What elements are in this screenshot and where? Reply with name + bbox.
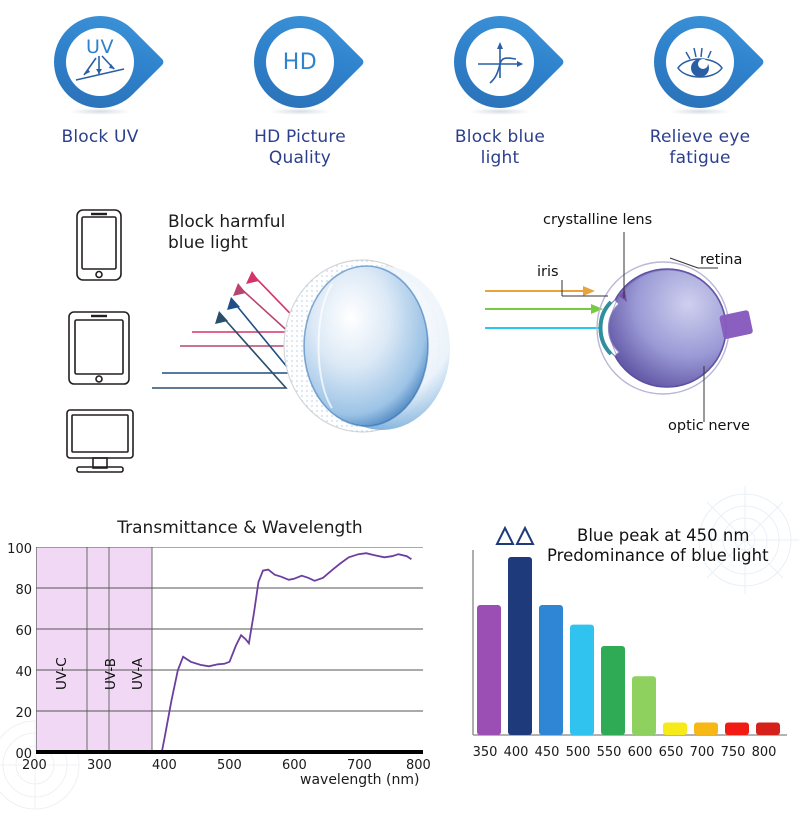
bar-xlabel-700: 700 [686, 745, 718, 760]
bar-750 [725, 723, 749, 735]
bar-600 [632, 676, 656, 735]
phone-icon [77, 210, 121, 280]
uv-band-label-c: UV-C [54, 657, 70, 690]
lens-eye-diagram: Block harmful blue light [0, 196, 800, 486]
bar-550 [601, 646, 625, 735]
feature-block-blue-light: Block blue light [400, 10, 600, 169]
chart-title-transmittance: Transmittance & Wavelength [100, 518, 380, 538]
tablet-icon [69, 312, 129, 384]
uv-band-label-b: UV-B [103, 658, 119, 690]
xtick-500: 500 [217, 758, 242, 773]
block-harmful-blue-light-text: Block harmful blue light [168, 212, 378, 254]
uv-shield-icon: UV [50, 10, 150, 115]
hd-icon: HD [250, 10, 350, 115]
bar-500 [570, 625, 594, 735]
feature-hd-picture: HD HD Picture Quality [200, 10, 400, 169]
eye-icon [650, 10, 750, 115]
xtick-700: 700 [347, 758, 372, 773]
uv-band-label-a: UV-A [130, 658, 146, 690]
transmittance-plot [36, 547, 426, 767]
bar-xlabel-350: 350 [469, 745, 501, 760]
ytick-20: 20 [4, 706, 32, 721]
bar-400 [508, 557, 532, 735]
feature-label-hd-picture: HD Picture Quality [200, 127, 400, 169]
bar-xlabel-800: 800 [748, 745, 780, 760]
bar-700 [694, 723, 718, 735]
bar-xlabel-500: 500 [562, 745, 594, 760]
bar-xlabel-750: 750 [717, 745, 749, 760]
monitor-icon [67, 410, 133, 472]
band-uvc [36, 547, 87, 752]
xaxis-label-wavelength: wavelength (nm) [300, 772, 419, 788]
bar-xlabel-650: 650 [655, 745, 687, 760]
bar-xlabel-450: 450 [531, 745, 563, 760]
bar-plot [467, 550, 797, 740]
feature-label-block-uv: Block UV [0, 127, 200, 148]
ytick-100: 100 [4, 542, 32, 557]
xtick-400: 400 [152, 758, 177, 773]
xtick-200: 200 [22, 758, 47, 773]
bar-650 [663, 723, 687, 735]
eye-label-leaders [520, 206, 780, 446]
charts-row: Transmittance & Wavelength 100 80 60 40 … [0, 500, 800, 800]
bar-xlabel-600: 600 [624, 745, 656, 760]
feature-relieve-eye-fatigue: Relieve eye fatigue [600, 10, 800, 169]
bar-xlabel-400: 400 [500, 745, 532, 760]
band-uva [109, 547, 152, 752]
xtick-300: 300 [87, 758, 112, 773]
bar-xlabel-550: 550 [593, 745, 625, 760]
bar-350 [477, 605, 501, 735]
feature-icons-row: UV Block UV [0, 10, 800, 200]
bar-800 [756, 723, 780, 735]
band-uvb [87, 547, 109, 752]
triangle-markers [495, 524, 535, 550]
feature-label-relieve-eye-fatigue: Relieve eye fatigue [600, 127, 800, 169]
xtick-600: 600 [282, 758, 307, 773]
hd-icon-text: HD [266, 50, 334, 75]
feature-label-block-blue-light: Block blue light [400, 127, 600, 169]
spectrum-bar-chart: Blue peak at 450 nm Predominance of blue… [455, 500, 800, 790]
annotation-blue-peak: Blue peak at 450 nm [577, 526, 749, 546]
lens-illustration [270, 254, 490, 454]
xtick-800: 800 [406, 758, 431, 773]
ytick-60: 60 [4, 624, 32, 639]
ytick-80: 80 [4, 583, 32, 598]
blue-light-curve-icon [450, 10, 550, 115]
bar-450 [539, 605, 563, 735]
feature-block-uv: UV Block UV [0, 10, 200, 148]
ytick-40: 40 [4, 665, 32, 680]
